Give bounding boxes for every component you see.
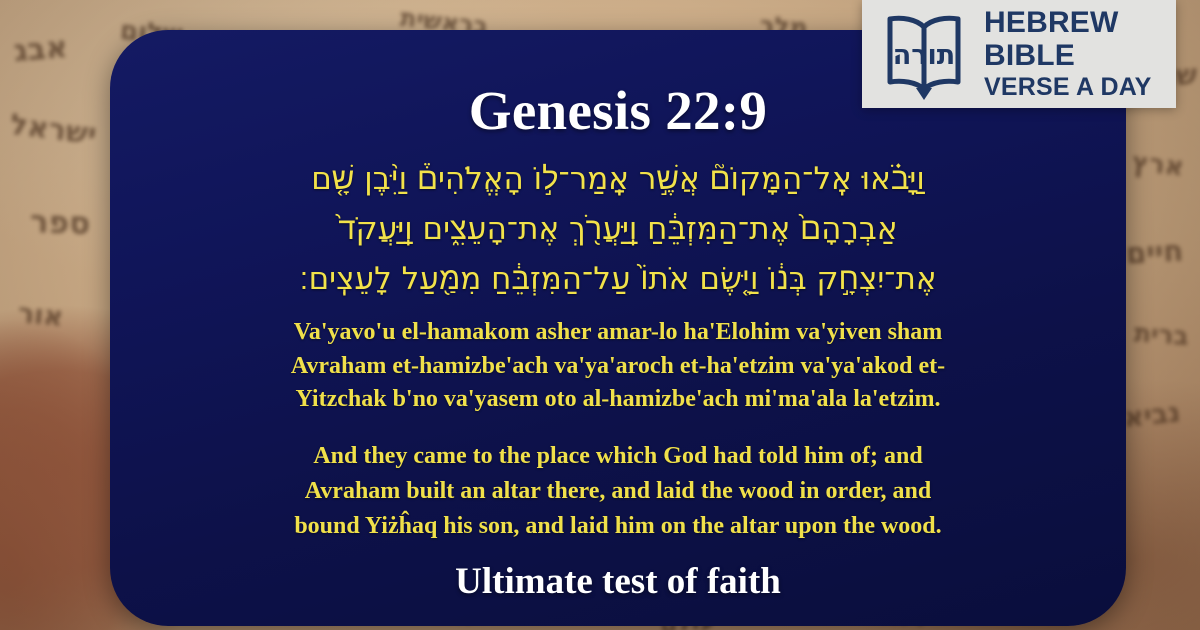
translation-line: bound Yiżĥaq his son, and laid him on th… <box>213 509 1023 544</box>
brand-logo-panel: תורה HEBREW BIBLE VERSE A DAY <box>862 0 1176 108</box>
brand-line-verse-a-day: VERSE A DAY <box>984 75 1152 100</box>
verse-card: Genesis 22:9 וַיָּבֹ֗אוּ אֶֽל־הַמָּקוֹם֘… <box>110 30 1126 626</box>
verse-caption: Ultimate test of faith <box>455 560 781 603</box>
brand-line-bible: BIBLE <box>984 41 1152 71</box>
translation-line: Avraham built an altar there, and laid t… <box>213 474 1023 509</box>
translation-line: And they came to the place which God had… <box>213 439 1023 474</box>
transliteration-line: Va'yavo'u el-hamakom asher amar-lo ha'El… <box>218 316 1018 350</box>
transliteration-line: Yitzchak b'no va'yasem oto al-hamizbe'ac… <box>218 383 1018 417</box>
open-book-icon: תורה <box>876 8 972 100</box>
english-translation-text: And they came to the place which God had… <box>213 439 1023 544</box>
hebrew-line: אַבְרָהָם֙ אֶת־הַמִּזְבֵּ֔חַ וַֽיַּעֲרֹ֖… <box>178 204 1058 254</box>
brand-wordmark: HEBREW BIBLE VERSE A DAY <box>984 8 1152 100</box>
hebrew-line: וַיָּבֹ֗אוּ אֶֽל־הַמָּקוֹם֘ אֲשֶׁ֣ר אָֽמ… <box>178 154 1058 204</box>
brand-line-hebrew: HEBREW <box>984 8 1152 38</box>
hebrew-verse-text: וַיָּבֹ֗אוּ אֶֽל־הַמָּקוֹם֘ אֲשֶׁ֣ר אָֽמ… <box>178 154 1058 305</box>
transliteration-text: Va'yavo'u el-hamakom asher amar-lo ha'El… <box>218 316 1018 417</box>
logo-hebrew-word: תורה <box>893 40 956 71</box>
transliteration-line: Avraham et-hamizbe'ach va'ya'aroch et-ha… <box>218 350 1018 384</box>
verse-image-canvas: אבג שלום תורה בראשית דוד מלך ישראל כתב ס… <box>0 0 1200 630</box>
hebrew-line: אֶת־יִצְחָ֣ק בְּנ֔וֹ וַיָּ֤שֶׂם אֹתוֹ֙ ע… <box>178 254 1058 304</box>
page-title: Genesis 22:9 <box>469 80 767 142</box>
